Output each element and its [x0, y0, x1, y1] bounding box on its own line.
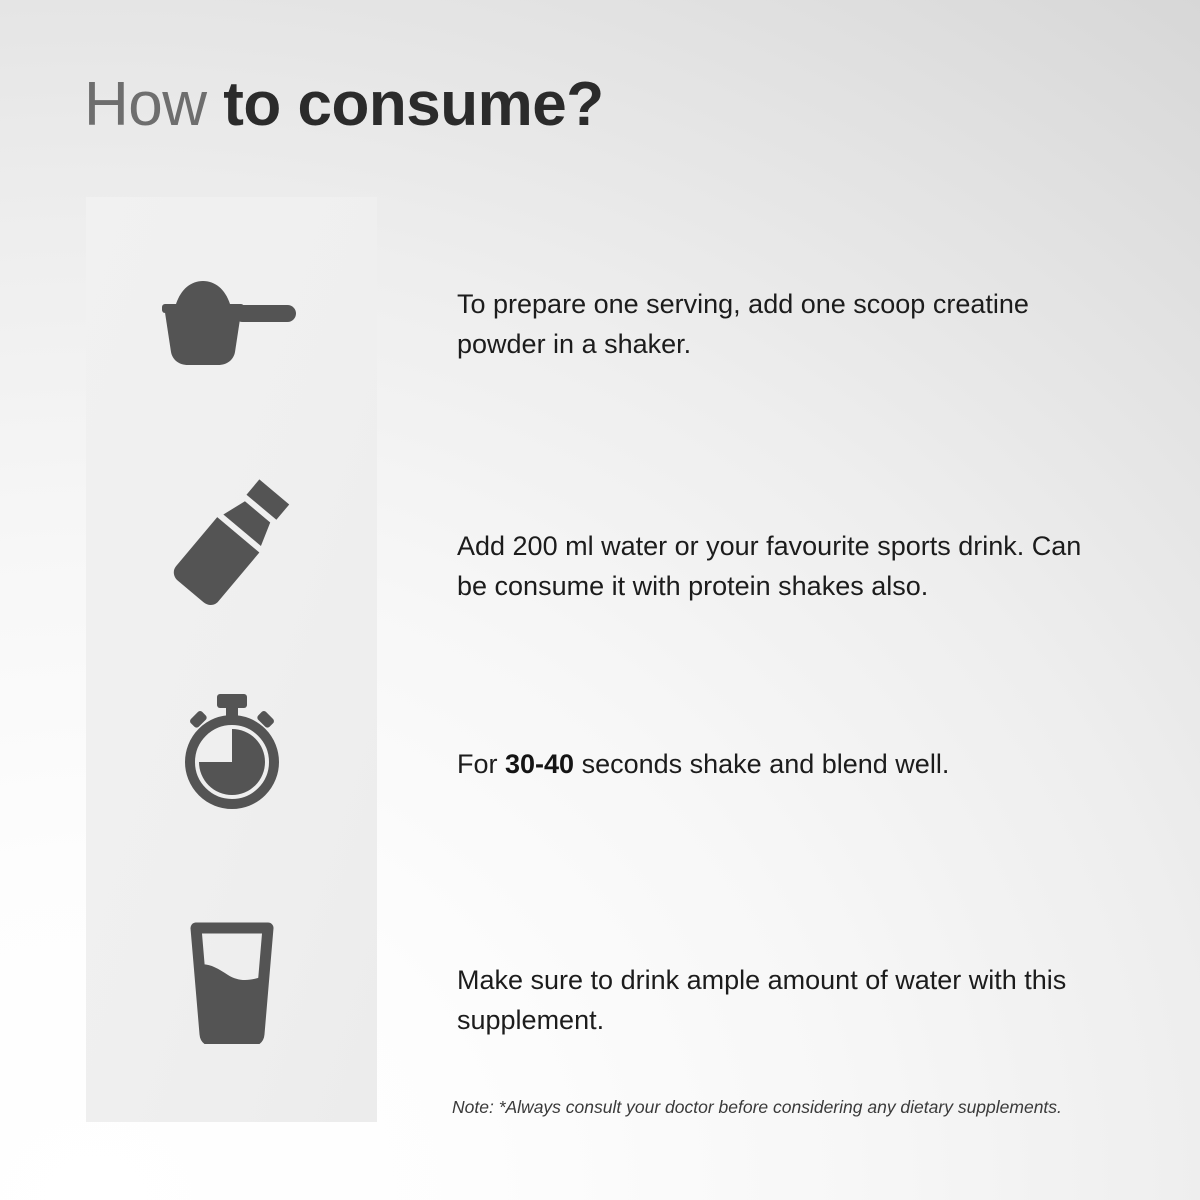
shaker-bottle-icon: [86, 470, 377, 610]
measuring-scoop-icon: [86, 272, 377, 368]
step-3-text-after: seconds shake and blend well.: [574, 749, 949, 779]
stopwatch-icon: [86, 692, 377, 810]
water-glass-icon: [86, 922, 377, 1044]
step-4-text: Make sure to drink ample amount of water…: [457, 965, 1066, 1035]
page-title-bold-part: to consume?: [223, 70, 603, 139]
step-2-text: Add 200 ml water or your favourite sport…: [457, 531, 1081, 601]
step-1-text: To prepare one serving, add one scoop cr…: [457, 289, 1029, 359]
step-3-duration: 30-40: [505, 749, 574, 779]
step-3-text-before: For: [457, 749, 505, 779]
step-text-1: To prepare one serving, add one scoop cr…: [457, 284, 1117, 364]
step-text-4: Make sure to drink ample amount of water…: [457, 960, 1117, 1040]
page-title: How to consume?: [84, 74, 604, 136]
disclaimer-note: Note: *Always consult your doctor before…: [452, 1097, 1152, 1118]
page-title-light-part: How: [84, 70, 223, 139]
step-text-2: Add 200 ml water or your favourite sport…: [457, 526, 1117, 606]
how-to-consume-infographic: How to consume?: [0, 0, 1200, 1200]
step-text-3: For 30-40 seconds shake and blend well.: [457, 744, 1117, 784]
